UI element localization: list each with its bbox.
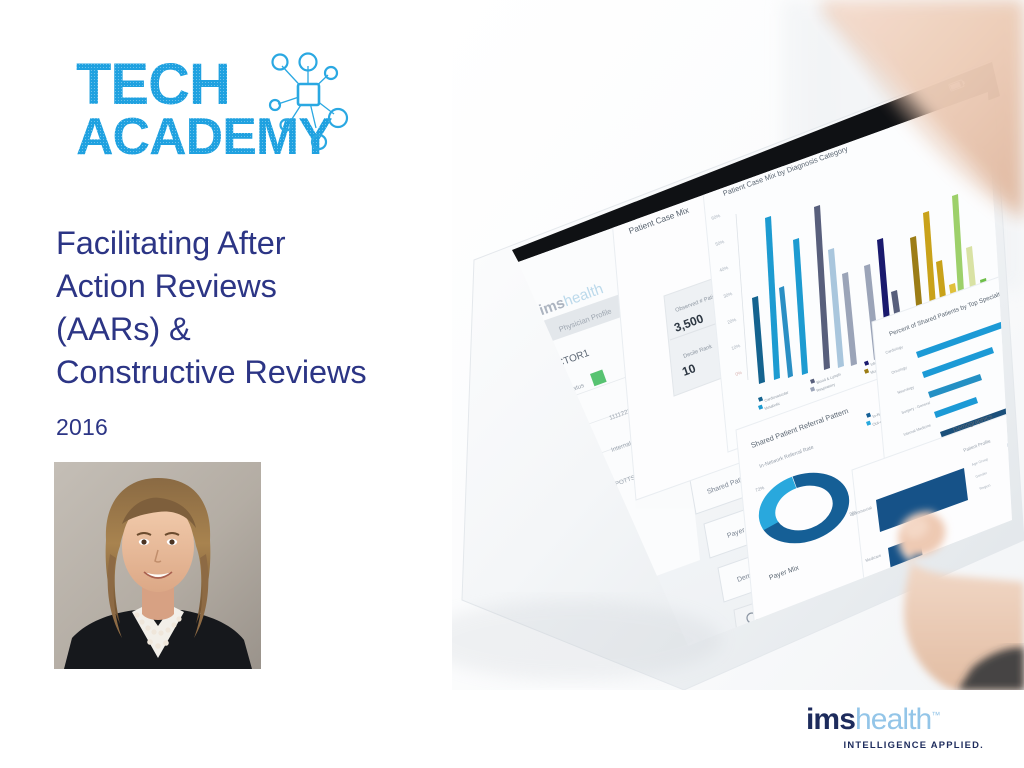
tablet-photo-illustration: 9:06 am ims	[452, 0, 1024, 690]
subtitle-year: 2016	[56, 414, 108, 441]
imshealth-tagline: INTELLIGENCE APPLIED.	[806, 739, 986, 750]
imshealth-wordmark: imshealth™	[806, 700, 986, 735]
title-line-4: Constructive Reviews	[56, 351, 456, 394]
imshealth-logo-ims: ims	[806, 703, 855, 736]
page-title: Facilitating After Action Reviews (AARs)…	[56, 222, 456, 394]
tablet-dashboard-photo: 9:06 am ims	[452, 0, 1024, 690]
imshealth-logo-health: health	[855, 703, 931, 736]
imshealth-logo: imshealth™ INTELLIGENCE APPLIED.	[806, 700, 986, 752]
title-line-3: (AARs) &	[56, 308, 456, 351]
portrait-illustration	[54, 462, 261, 669]
presentation-slide: TECH ACADEMY	[0, 0, 1024, 768]
tech-academy-logo-svg: TECH ACADEMY	[72, 42, 352, 182]
tech-academy-logo: TECH ACADEMY	[72, 42, 352, 182]
title-line-2: Action Reviews	[56, 265, 456, 308]
left-content-panel: TECH ACADEMY	[0, 0, 460, 768]
presenter-portrait-photo	[54, 462, 261, 669]
trademark-symbol: ™	[931, 710, 939, 720]
title-line-1: Facilitating After	[56, 222, 456, 265]
